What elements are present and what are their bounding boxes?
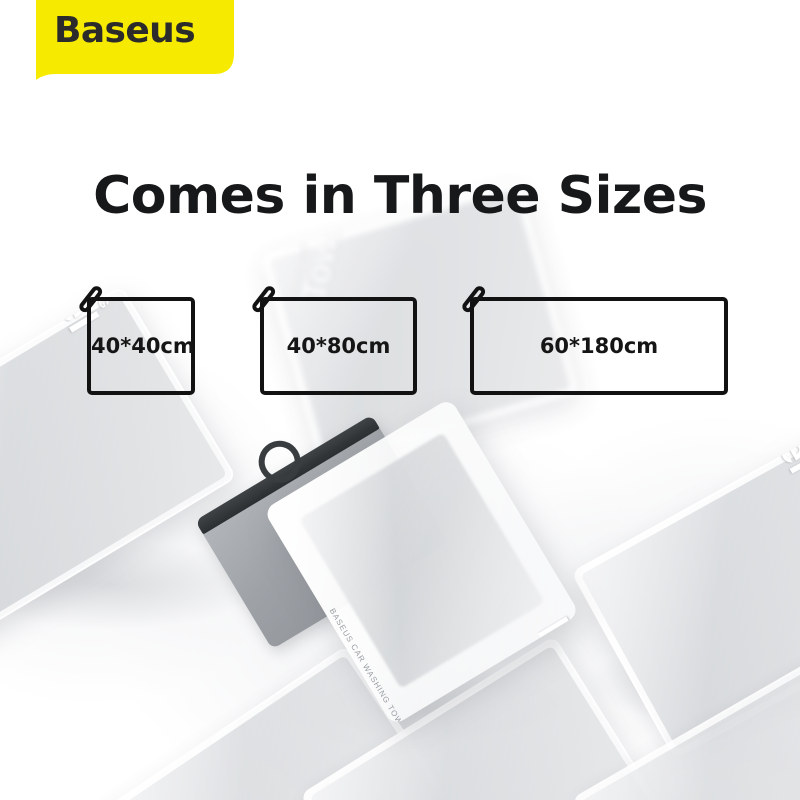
size-box-40x80[interactable]: 40*80cm xyxy=(260,297,417,395)
size-label: 40*80cm xyxy=(264,334,413,358)
sleeve-sheen xyxy=(263,398,580,726)
page-title: Comes in Three Sizes xyxy=(0,166,800,226)
size-label: 40*40cm xyxy=(91,334,191,358)
size-label: 60*180cm xyxy=(474,334,724,358)
size-box-60x180[interactable]: 60*180cm xyxy=(470,297,728,395)
size-box-40x40[interactable]: 40*40cm xyxy=(87,297,195,395)
product-photo-backdrop: CAR WASHING Towel CAR WASHING Towel CAR … xyxy=(0,0,800,800)
hero-rotation-wrapper: BASEUS CAR WASHING TOWEL CAR WASHING Tow… xyxy=(190,362,602,774)
package-sleeve: BASEUS CAR WASHING TOWEL CAR WASHING Tow… xyxy=(263,398,580,726)
brand-wordmark: Baseus xyxy=(54,10,195,51)
hero-product-package: BASEUS CAR WASHING TOWEL CAR WASHING Tow… xyxy=(246,418,546,718)
baseus-logo-banner: Baseus xyxy=(36,0,234,80)
product-marketing-image: CAR WASHING Towel CAR WASHING Towel CAR … xyxy=(0,0,800,800)
